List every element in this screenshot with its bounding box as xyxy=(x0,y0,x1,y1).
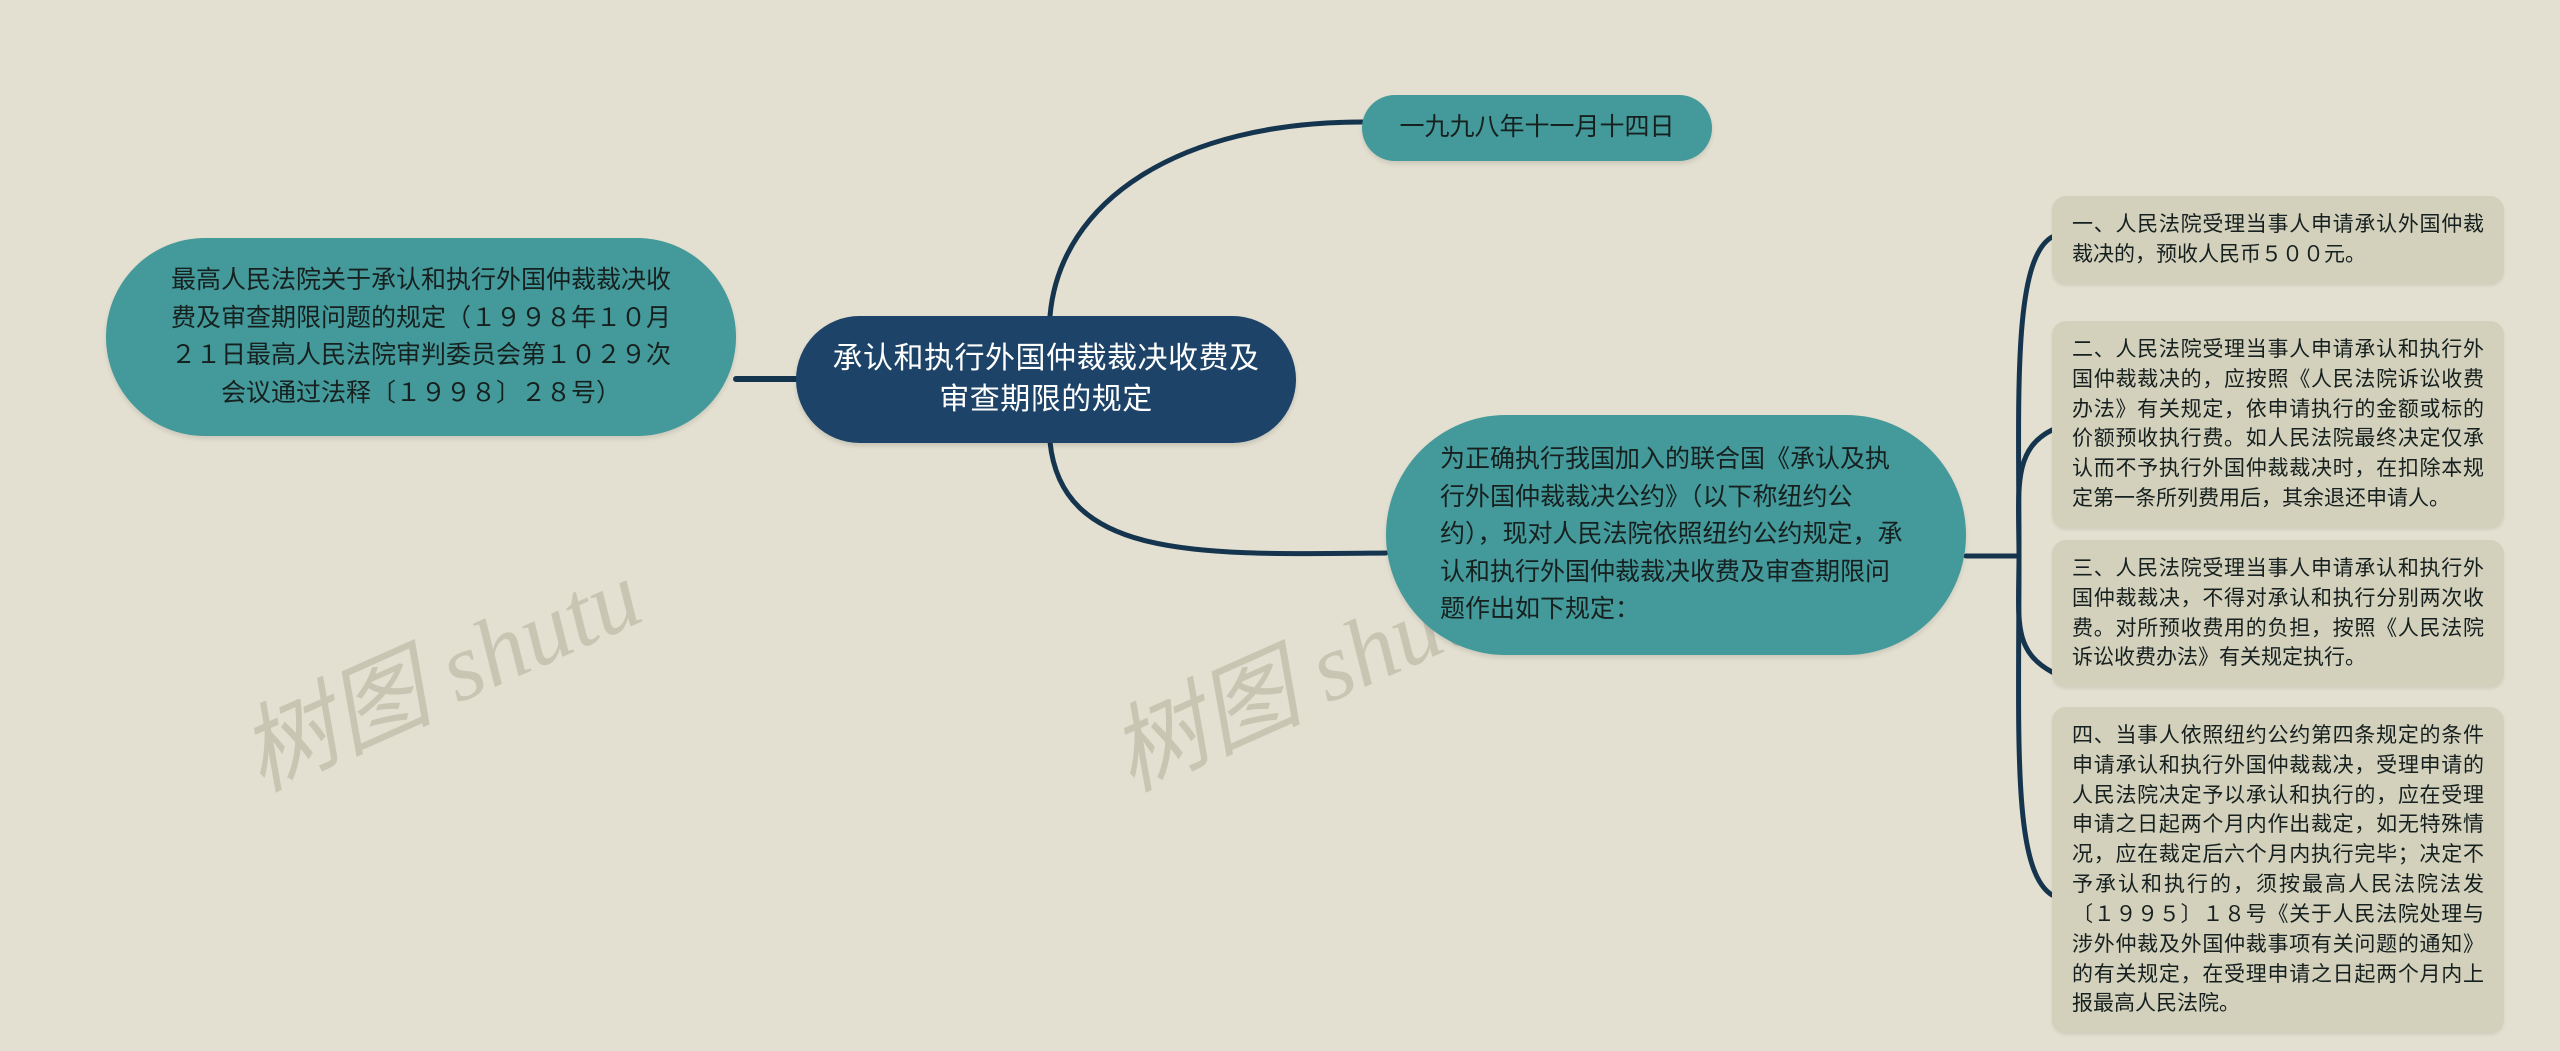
leaf-node-article-3[interactable]: 三、人民法院受理当事人申请承认和执行外国仲裁裁决，不得对承认和执行分别两次收费。… xyxy=(2052,540,2504,687)
branch-node-preamble-label: 为正确执行我国加入的联合国《承认及执行外国仲裁裁决公约》（以下称纽约公约），现对… xyxy=(1440,445,1903,623)
branch-node-date[interactable]: 一九九八年十一月十四日 xyxy=(1362,95,1712,161)
leaf-node-article-2[interactable]: 二、人民法院受理当事人申请承认和执行外国仲裁裁决的，应按照《人民法院诉讼收费办法… xyxy=(2052,321,2504,528)
leaf-node-article-2-text: 二、人民法院受理当事人申请承认和执行外国仲裁裁决的，应按照《人民法院诉讼收费办法… xyxy=(2072,338,2484,510)
connector-branch-article-3 xyxy=(2019,556,2052,672)
connector-root-to-date xyxy=(1050,122,1362,316)
watermark-text: 树图 shutu xyxy=(215,518,659,817)
branch-node-preamble[interactable]: 为正确执行我国加入的联合国《承认及执行外国仲裁裁决公约》（以下称纽约公约），现对… xyxy=(1386,415,1966,655)
root-node-label: 承认和执行外国仲裁裁决收费及审查期限的规定 xyxy=(833,342,1260,416)
mindmap-canvas: 树图 shutu 树图 shutu 承认和执行外国仲裁裁决收费及审查期限的规定 … xyxy=(0,0,2560,1051)
leaf-node-article-1[interactable]: 一、人民法院受理当事人申请承认外国仲裁裁决的，预收人民币５００元。 xyxy=(2052,196,2504,284)
connector-root-to-preamble xyxy=(1050,442,1386,554)
leaf-node-article-1-text: 一、人民法院受理当事人申请承认外国仲裁裁决的，预收人民币５００元。 xyxy=(2072,213,2484,266)
leaf-node-article-4-text: 四、当事人依照纽约公约第四条规定的条件申请承认和执行外国仲裁裁决，受理申请的人民… xyxy=(2072,724,2484,1015)
connector-branch-article-4 xyxy=(2019,556,2052,895)
connector-branch-article-1 xyxy=(2019,237,2052,556)
branch-node-title-label: 最高人民法院关于承认和执行外国仲裁裁决收费及审查期限问题的规定（１９９８年１０月… xyxy=(171,266,671,407)
leaf-node-article-4[interactable]: 四、当事人依照纽约公约第四条规定的条件申请承认和执行外国仲裁裁决，受理申请的人民… xyxy=(2052,707,2504,1033)
connector-branch-article-2 xyxy=(2019,430,2052,556)
branch-node-date-label: 一九九八年十一月十四日 xyxy=(1399,113,1674,141)
leaf-node-article-3-text: 三、人民法院受理当事人申请承认和执行外国仲裁裁决，不得对承认和执行分别两次收费。… xyxy=(2072,557,2484,669)
branch-node-title[interactable]: 最高人民法院关于承认和执行外国仲裁裁决收费及审查期限问题的规定（１９９８年１０月… xyxy=(106,238,736,436)
root-node[interactable]: 承认和执行外国仲裁裁决收费及审查期限的规定 xyxy=(796,316,1296,443)
